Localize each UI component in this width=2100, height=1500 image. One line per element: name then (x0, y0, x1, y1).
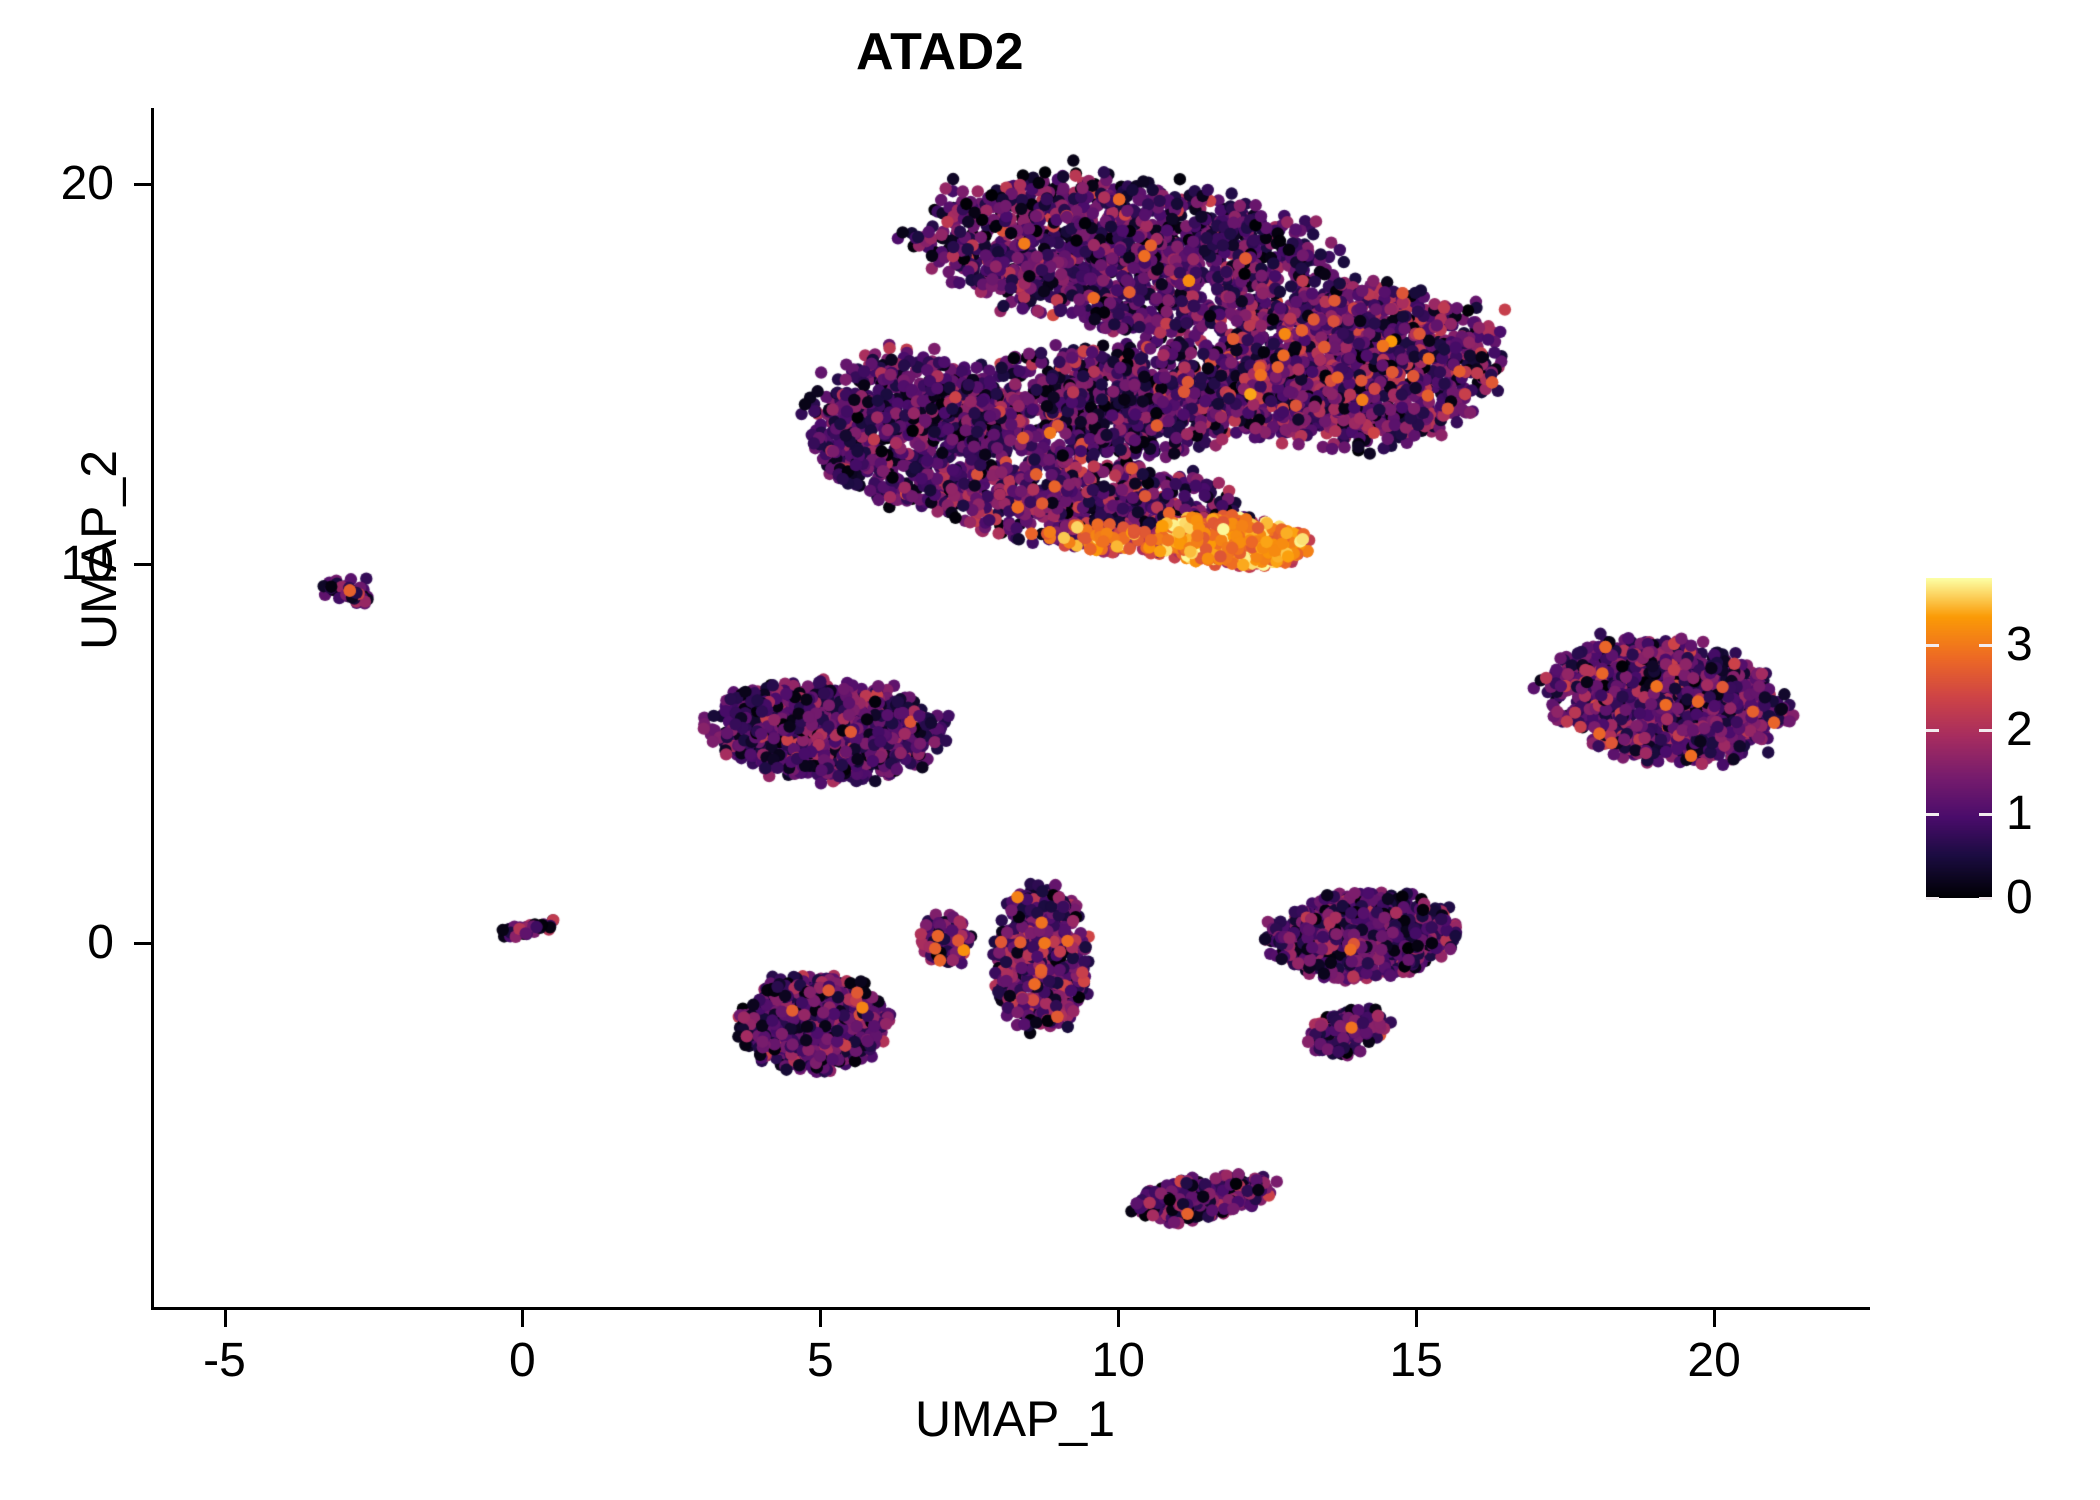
y-tick-mark (134, 183, 151, 186)
umap-feature-plot-figure: ATAD2 UMAP_2 -505101520 01020 UMAP_1 012… (0, 0, 2100, 1500)
y-axis-line (151, 108, 154, 1310)
x-tick-mark (1713, 1310, 1716, 1327)
legend-tick-label: 2 (2006, 706, 2033, 754)
x-tick-mark (224, 1310, 227, 1327)
x-tick-label: 0 (442, 1333, 602, 1388)
legend-tick-mark (1979, 729, 1992, 732)
scatter-points-canvas (153, 108, 1869, 1308)
x-axis-label: UMAP_1 (150, 1390, 1880, 1448)
x-tick-label: -5 (145, 1333, 305, 1388)
legend-gradient-bar (1926, 578, 1992, 898)
x-tick-mark (521, 1310, 524, 1327)
legend-tick-mark (1926, 897, 1939, 900)
plot-panel (153, 108, 1869, 1308)
y-tick-label: 0 (0, 919, 114, 967)
x-axis-line (151, 1307, 1870, 1310)
legend-tick-mark (1926, 729, 1939, 732)
x-tick-label: 15 (1336, 1333, 1496, 1388)
x-tick-label: 10 (1038, 1333, 1198, 1388)
legend-tick-mark (1926, 644, 1939, 647)
x-tick-mark (1415, 1310, 1418, 1327)
legend-tick-mark (1979, 813, 1992, 816)
x-tick-label: 5 (740, 1333, 900, 1388)
y-tick-label: 20 (0, 160, 114, 208)
legend-tick-mark (1926, 813, 1939, 816)
legend-tick-label: 0 (2006, 874, 2033, 922)
x-tick-label: 20 (1634, 1333, 1794, 1388)
y-tick-mark (134, 942, 151, 945)
color-scale-legend (1926, 578, 1992, 898)
y-tick-label: 10 (0, 540, 114, 588)
y-tick-mark (134, 563, 151, 566)
x-tick-mark (1117, 1310, 1120, 1327)
legend-tick-mark (1979, 644, 1992, 647)
page-title: ATAD2 (0, 22, 1880, 82)
x-tick-mark (819, 1310, 822, 1327)
legend-tick-label: 1 (2006, 790, 2033, 838)
legend-tick-mark (1979, 897, 1992, 900)
legend-tick-label: 3 (2006, 621, 2033, 669)
